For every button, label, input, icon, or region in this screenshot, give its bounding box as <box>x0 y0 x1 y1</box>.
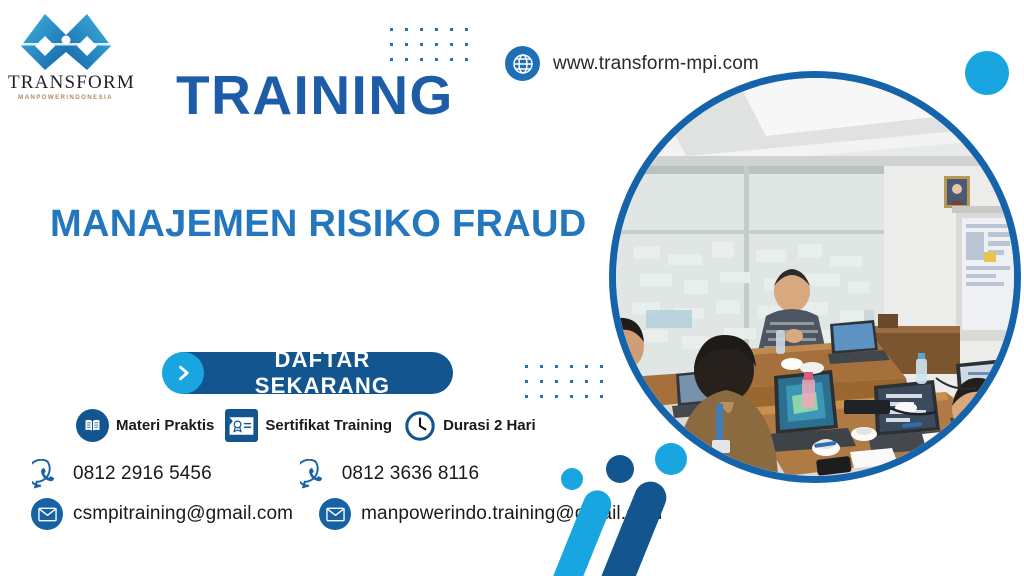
email-contact[interactable]: csmpitraining@gmail.com <box>31 498 293 530</box>
brand-logo: TRANSFORM MANPOWERINDONESIA <box>8 10 123 101</box>
book-icon <box>76 409 109 442</box>
certificate-icon <box>225 409 258 442</box>
email-address: csmpitraining@gmail.com <box>73 503 293 525</box>
feature-list: Materi Praktis Sertifikat Training <box>76 409 536 442</box>
feature-item: Sertifikat Training <box>225 409 392 442</box>
transform-diamond-logo <box>16 10 116 72</box>
email-icon <box>31 498 63 530</box>
page-title: MANAJEMEN RISIKO FRAUD <box>50 205 587 243</box>
training-classroom-photo <box>616 78 1014 476</box>
phone-number: 0812 2916 5456 <box>73 463 212 485</box>
clock-icon <box>403 409 436 442</box>
whatsapp-icon <box>31 458 63 490</box>
brand-tagline: MANPOWERINDONESIA <box>8 94 123 101</box>
decor-dot-light <box>561 468 583 490</box>
feature-label: Sertifikat Training <box>265 417 392 434</box>
brand-name: TRANSFORM <box>8 73 123 93</box>
dot-pattern-mid <box>525 365 603 398</box>
phone-contact-row: 0812 2916 5456 0812 3636 8116 <box>31 458 479 490</box>
chevron-right-icon <box>162 352 204 394</box>
training-flyer: TRANSFORM MANPOWERINDONESIA TRAINING MAN… <box>0 0 1024 576</box>
page-kicker: TRAINING <box>176 68 454 123</box>
whatsapp-icon <box>300 458 332 490</box>
decor-circle-small <box>655 443 687 475</box>
feature-item: Materi Praktis <box>76 409 214 442</box>
globe-icon <box>505 46 540 81</box>
phone-contact[interactable]: 0812 3636 8116 <box>300 458 479 490</box>
register-button-label: DAFTAR SEKARANG <box>204 347 453 399</box>
decor-dot-dark <box>606 455 634 483</box>
website-url: www.transform-mpi.com <box>553 53 759 75</box>
feature-item: Durasi 2 Hari <box>403 409 536 442</box>
feature-label: Materi Praktis <box>116 417 214 434</box>
phone-number: 0812 3636 8116 <box>342 463 479 485</box>
email-icon <box>319 498 351 530</box>
website-link[interactable]: www.transform-mpi.com <box>505 46 759 81</box>
phone-contact[interactable]: 0812 2916 5456 <box>31 458 212 490</box>
training-photo-frame <box>609 71 1021 483</box>
register-button[interactable]: DAFTAR SEKARANG <box>163 352 453 394</box>
email-address: manpowerindo.training@gmail.com <box>361 503 662 525</box>
feature-label: Durasi 2 Hari <box>443 417 536 434</box>
email-contact-row: csmpitraining@gmail.com manpowerindo.tra… <box>31 498 662 530</box>
dot-pattern-top <box>390 28 468 61</box>
decor-circle-topright <box>965 51 1009 95</box>
